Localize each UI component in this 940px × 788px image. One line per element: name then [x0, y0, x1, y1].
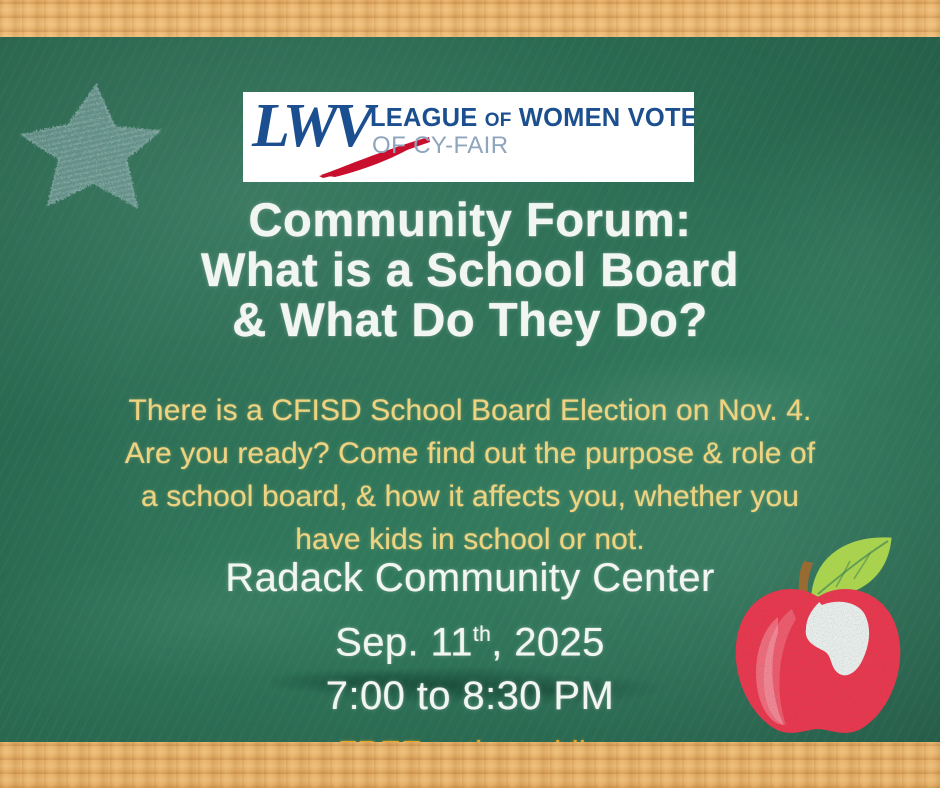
lwv-title-line-2: OF CY-FAIR: [372, 132, 508, 160]
event-date-main: Sep. 11: [335, 620, 473, 664]
logo-women-voters: WOMEN VOTERS: [519, 104, 694, 132]
date-ordinal-suffix: th: [473, 623, 491, 646]
headline-line-3: & What Do They Do?: [0, 295, 940, 345]
headline-line-2: What is a School Board: [0, 245, 940, 295]
logo-league: LEAGUE: [370, 104, 477, 132]
logo-of: OF: [485, 110, 512, 131]
headline-line-1: Community Forum:: [0, 195, 940, 245]
event-date-year: , 2025: [491, 620, 605, 664]
lwv-title-line-1: LEAGUE OF WOMEN VOTERS®: [370, 104, 694, 133]
lwv-logo-card: LWV LEAGUE OF WOMEN VOTERS® OF CY-FAIR: [243, 92, 694, 182]
event-poster: LWV LEAGUE OF WOMEN VOTERS® OF CY-FAIR C…: [0, 0, 940, 788]
apple-with-bite-icon: [718, 521, 918, 739]
poster-headline: Community Forum: What is a School Board …: [0, 195, 940, 345]
body-line-1: There is a CFISD School Board Election o…: [40, 389, 900, 432]
body-line-3: a school board, & how it affects you, wh…: [40, 475, 900, 518]
chalkboard-surface: LWV LEAGUE OF WOMEN VOTERS® OF CY-FAIR C…: [0, 37, 940, 742]
body-line-2: Are you ready? Come find out the purpose…: [40, 432, 900, 475]
